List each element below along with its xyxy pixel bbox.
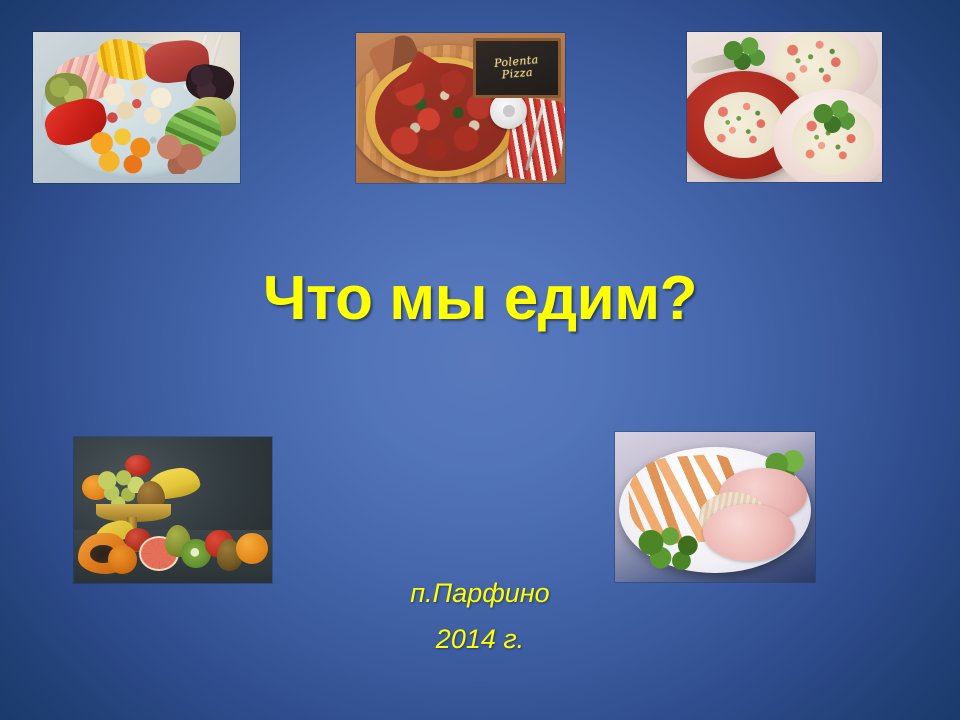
antipasto-platter-photo xyxy=(33,32,240,183)
presentation-slide: Polenta Pizza xyxy=(0,0,960,720)
fruit-bowl-photo xyxy=(74,437,272,583)
polenta-pizza-photo: Polenta Pizza xyxy=(356,33,565,183)
sausage-ham-platter-photo xyxy=(615,432,815,582)
subtitle-line-year: 2014 г. xyxy=(0,616,960,662)
slide-title: Что мы едим? xyxy=(0,268,960,330)
subtitle-line-location: п.Парфино xyxy=(0,570,960,616)
chowder-soup-photo xyxy=(687,32,882,182)
chalkboard-sign: Polenta Pizza xyxy=(473,38,561,98)
chalkboard-line-2: Pizza xyxy=(501,66,533,80)
slide-subtitle: п.Парфино 2014 г. xyxy=(0,570,960,663)
pizza-cutter-icon xyxy=(490,93,528,129)
